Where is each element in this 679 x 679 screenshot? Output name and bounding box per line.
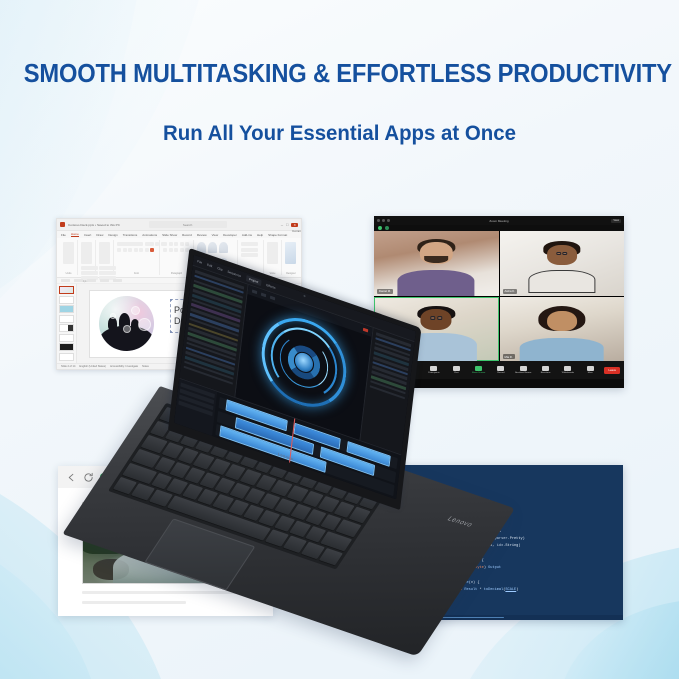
page-subtitle: Run All Your Essential Apps at Once (17, 121, 662, 146)
ribbon-group-clipboard[interactable]: Clipboard (78, 240, 96, 275)
tab-transitions[interactable]: Transitions (123, 233, 138, 237)
headline-block: SMOOTH MULTITASKING & EFFORTLESS PRODUCT… (0, 60, 679, 146)
webcam-icon (303, 294, 305, 297)
tab-shape-format[interactable]: Shape Format (268, 233, 287, 237)
tab-draw[interactable]: Draw (96, 233, 103, 237)
tab-file[interactable]: File (61, 233, 66, 237)
leave-meeting-button[interactable]: Leave (604, 367, 620, 374)
pause-icon[interactable] (261, 293, 266, 298)
close-button[interactable]: ✕ (291, 223, 298, 227)
ribbon-tabs[interactable]: File Home Insert Draw Design Transitions… (57, 231, 301, 238)
product-banner: SMOOTH MULTITASKING & EFFORTLESS PRODUCT… (0, 0, 679, 679)
quick-tool[interactable] (100, 279, 109, 282)
slide-thumbnail[interactable] (59, 315, 74, 323)
tab-review[interactable]: Review (197, 233, 207, 237)
toolbar-label: More (588, 372, 593, 374)
numbering-icon[interactable] (169, 242, 173, 246)
tab-developer[interactable]: Developer (223, 233, 237, 237)
recording-icon[interactable] (385, 226, 389, 230)
increase-font-icon[interactable] (155, 242, 159, 246)
slide-thumbnail[interactable] (59, 343, 74, 351)
content-text-line (82, 601, 186, 604)
decrease-indent-icon[interactable] (174, 242, 178, 246)
quick-tool[interactable] (74, 279, 83, 282)
italic-icon[interactable] (123, 248, 127, 252)
new-slide-icon[interactable] (99, 242, 110, 264)
font-family-select[interactable] (117, 242, 143, 246)
tab-help[interactable]: Help (257, 233, 263, 237)
language-indicator[interactable]: English (United States) (79, 365, 106, 368)
font-size-select[interactable] (145, 242, 154, 246)
toolbar-label: Whiteboards (562, 372, 574, 374)
tab-animations[interactable]: Animations (142, 233, 157, 237)
tab-slide-show[interactable]: Slide Show (162, 233, 177, 237)
play-icon[interactable] (252, 289, 257, 294)
menu-edit[interactable]: Edit (207, 263, 213, 269)
menu-sequence[interactable]: Sequence (227, 270, 241, 279)
tab-home[interactable]: Home (71, 232, 79, 237)
ribbon-group-undo[interactable]: Undo (60, 240, 78, 275)
underline-icon[interactable] (128, 248, 132, 252)
laptop-device: Lenovo File Edit Clip Sequence Project E… (160, 248, 560, 538)
lenovo-logo: Lenovo (446, 516, 475, 529)
search-input[interactable]: Search (149, 221, 227, 228)
ribbon-group-label: Undo (63, 272, 74, 275)
slide-thumbnail[interactable] (59, 324, 74, 332)
maximize-button[interactable]: □ (286, 223, 288, 227)
menu-clip[interactable]: Clip (217, 266, 223, 272)
meeting-title: Zoom Meeting (374, 219, 624, 223)
tab-design[interactable]: Design (108, 233, 117, 237)
character-spacing-icon[interactable] (145, 248, 149, 252)
reload-icon[interactable] (83, 472, 94, 483)
video-call-titlebar: Zoom Meeting View (374, 216, 624, 225)
minimize-button[interactable]: – (281, 223, 283, 227)
tab-record[interactable]: Record (182, 233, 192, 237)
quick-tool[interactable] (113, 279, 122, 282)
panel-tab-effects[interactable]: Effects (266, 283, 276, 290)
whiteboard-icon (564, 366, 571, 371)
whiteboards-button[interactable]: Whiteboards (557, 366, 579, 374)
find-icon[interactable] (241, 242, 258, 246)
slide-indicator: Slide 2 of 14 (61, 365, 75, 368)
back-arrow-icon[interactable] (66, 472, 77, 483)
page-title: SMOOTH MULTITASKING & EFFORTLESS PRODUCT… (24, 60, 655, 88)
view-button[interactable]: View (611, 219, 621, 223)
shadow-icon[interactable] (139, 248, 143, 252)
bubble-illustration (99, 296, 154, 351)
slide-thumbnail[interactable] (59, 305, 74, 313)
record-icon[interactable] (363, 328, 368, 333)
ribbon-group-font[interactable]: Font (114, 240, 160, 275)
accessibility-indicator[interactable]: Accessibility: Investigate (110, 365, 138, 368)
ribbon-group-slides[interactable]: Slides (96, 240, 114, 275)
font-color-icon[interactable] (150, 248, 154, 252)
menu-file[interactable]: File (197, 259, 202, 265)
slide-thumbnail-panel[interactable] (57, 284, 77, 363)
bullets-icon[interactable] (163, 242, 167, 246)
slide-thumbnail[interactable] (59, 286, 74, 294)
line-spacing-icon[interactable] (185, 242, 189, 246)
more-button[interactable]: More (579, 366, 601, 374)
tab-insert[interactable]: Insert (84, 233, 92, 237)
slide-thumbnail[interactable] (59, 334, 74, 342)
window-controls: – □ ✕ (281, 223, 298, 227)
increase-indent-icon[interactable] (180, 242, 184, 246)
ribbon-group-label: Font (117, 272, 156, 275)
strikethrough-icon[interactable] (134, 248, 138, 252)
tab-view[interactable]: View (212, 233, 218, 237)
notes-button[interactable]: Notes (142, 365, 149, 368)
quick-tool[interactable] (61, 279, 70, 282)
code-line: } (432, 601, 623, 608)
undo-icon[interactable] (63, 242, 74, 264)
powerpoint-app-icon (60, 222, 65, 227)
slide-thumbnail[interactable] (59, 296, 74, 304)
tab-add-ins[interactable]: Add-ins (242, 233, 252, 237)
quick-tool[interactable] (87, 279, 96, 282)
comments-button[interactable]: Comments (292, 229, 302, 241)
code-line: } (432, 594, 623, 601)
powerpoint-titlebar: Contoso Deck.pptx • Saved to this PC Sea… (57, 219, 301, 231)
ellipsis-icon (587, 366, 594, 371)
slide-thumbnail[interactable] (59, 353, 74, 361)
paste-icon[interactable] (81, 242, 92, 264)
bold-icon[interactable] (117, 248, 121, 252)
marker-icon[interactable] (270, 296, 275, 301)
encryption-icon[interactable] (378, 226, 382, 230)
content-text-line (82, 591, 249, 594)
document-title: Contoso Deck.pptx • Saved to this PC (68, 223, 120, 227)
